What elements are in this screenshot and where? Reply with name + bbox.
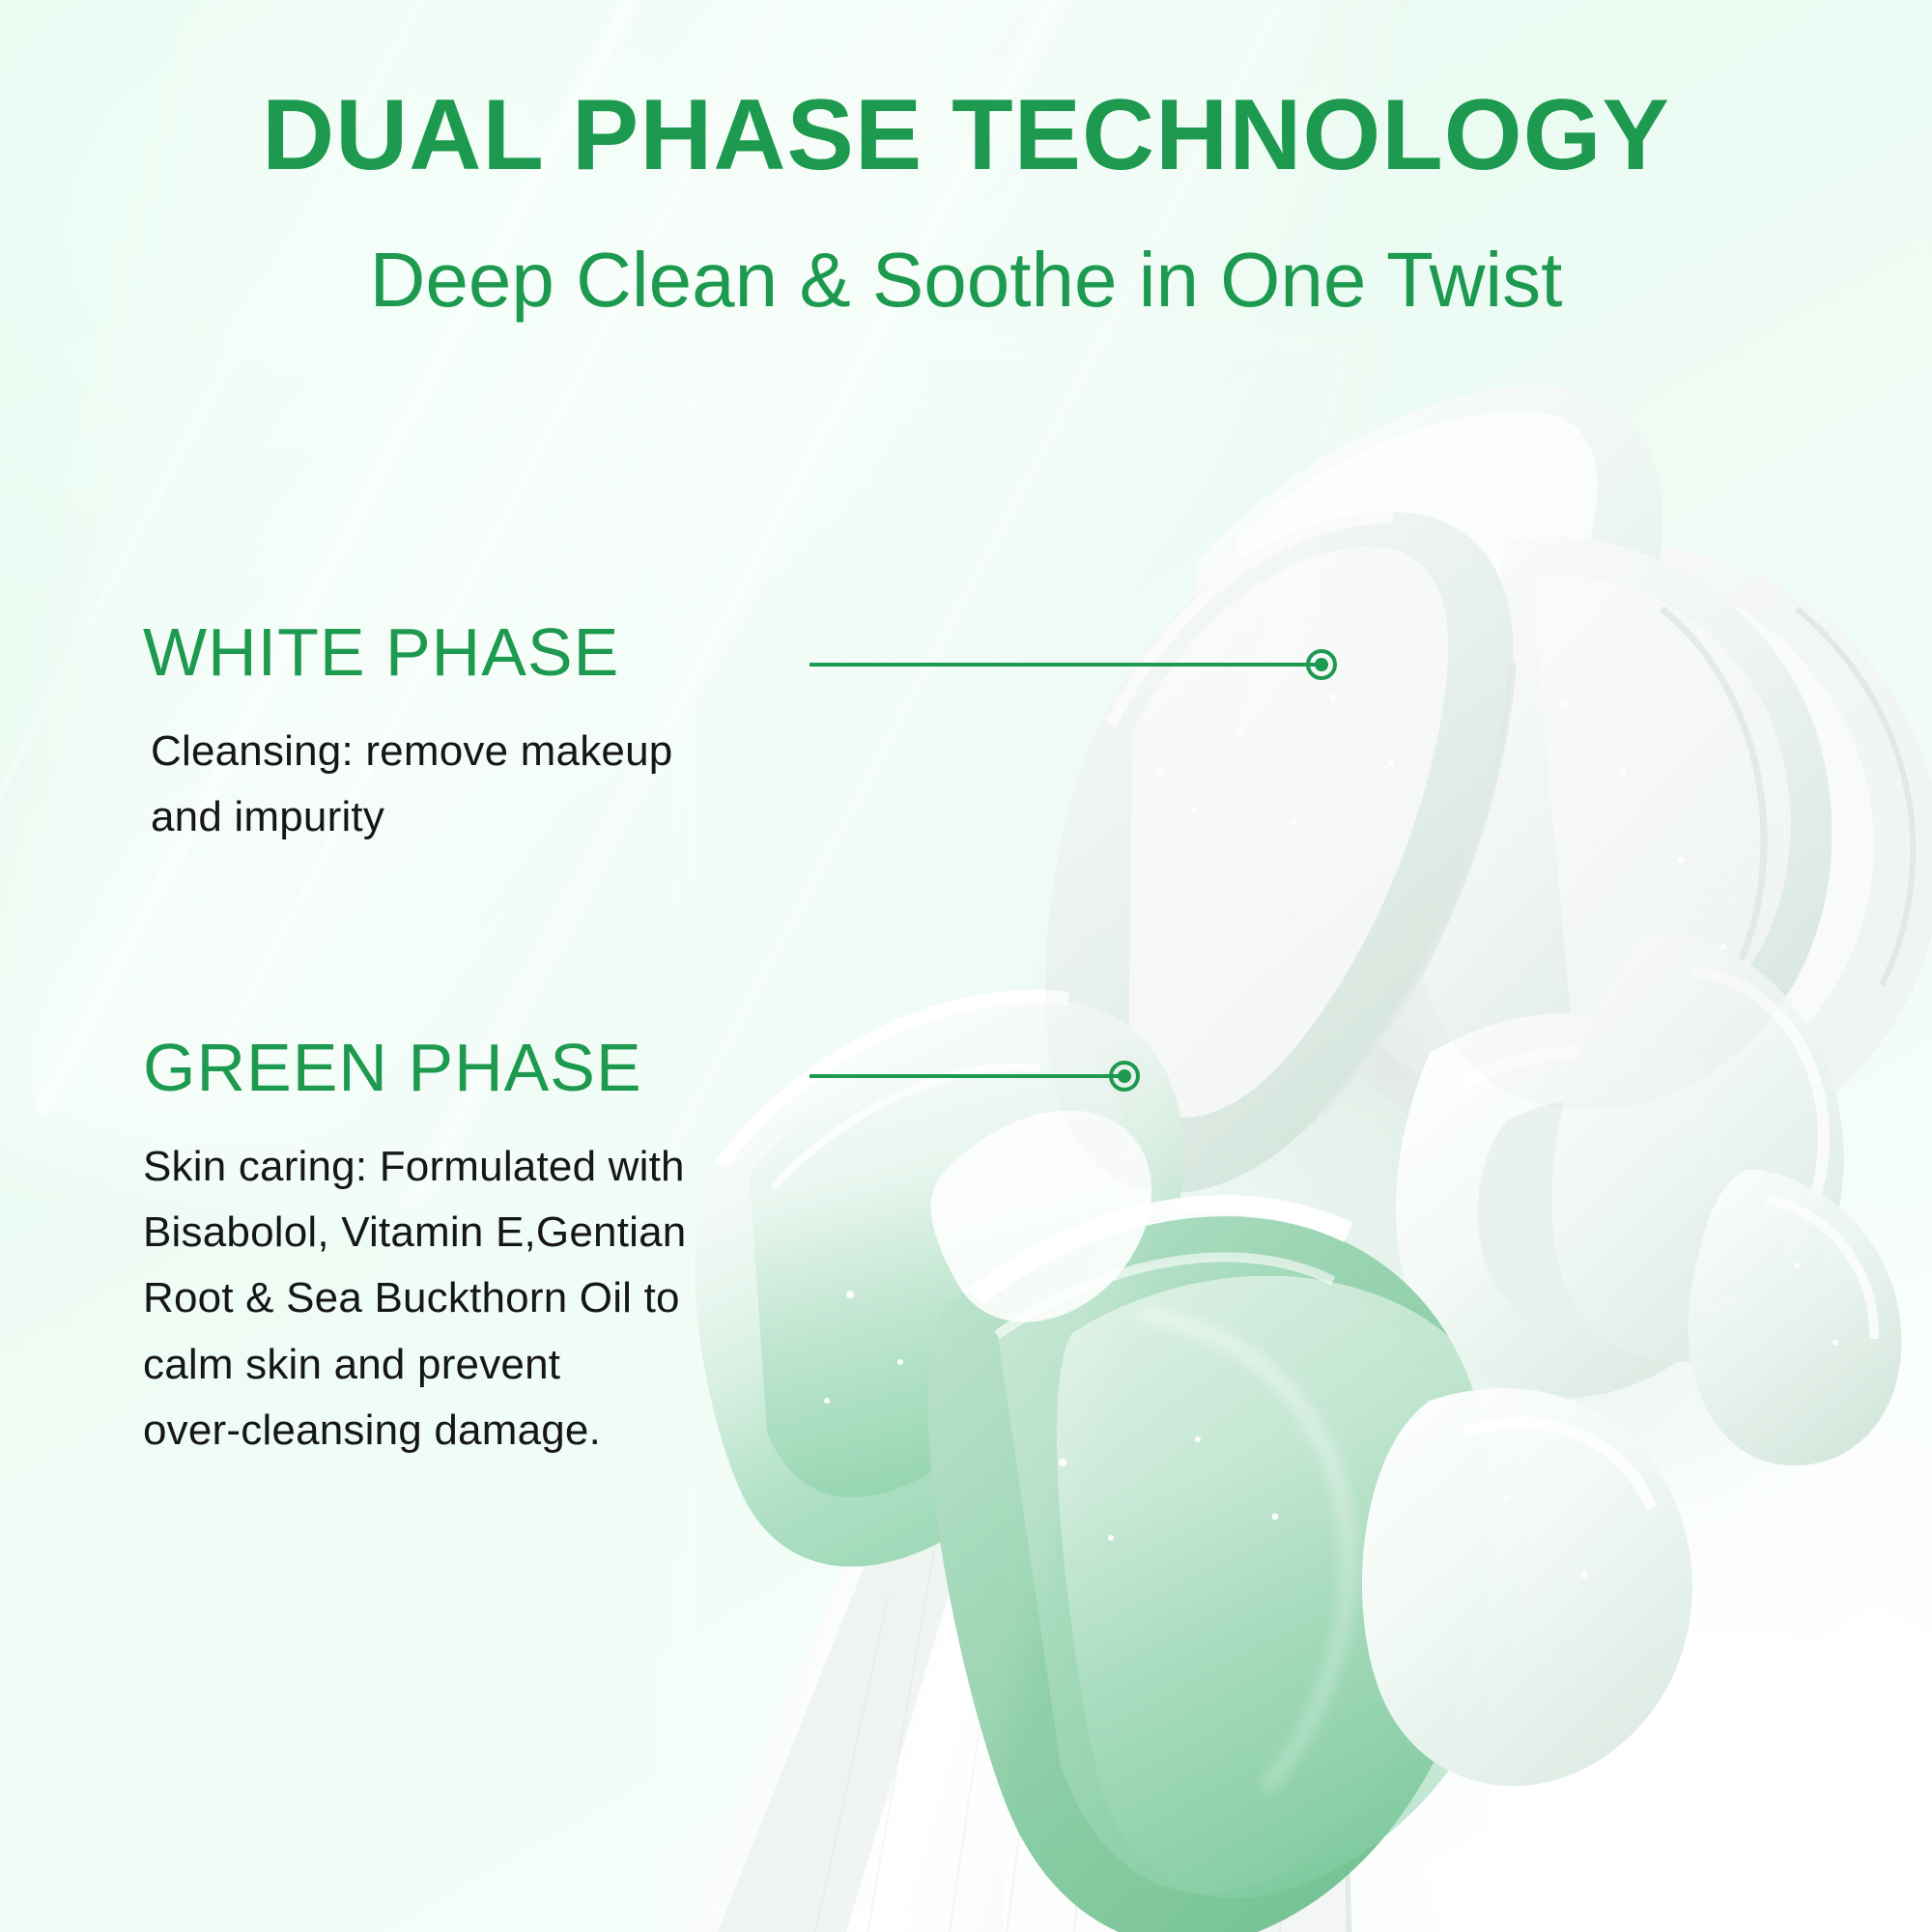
page-title: DUAL PHASE TECHNOLOGY [0,85,1932,185]
callout-body-line: and impurity [151,784,672,850]
callout-dot-white-phase [1306,649,1337,680]
callout-heading-white-phase: WHITE PHASE [143,618,672,686]
callout-heading-green-phase: GREEN PHASE [143,1034,686,1101]
leader-line-green-phase [810,1074,1124,1078]
callout-body-line: Root & Sea Buckthorn Oil to [143,1265,686,1331]
callout-green-phase: GREEN PHASE Skin caring: Formulated with… [143,1034,686,1463]
page-subtitle: Deep Clean & Soothe in One Twist [0,241,1932,319]
callout-body-line: Cleansing: remove makeup [151,719,672,784]
callout-body-white-phase: Cleansing: remove makeup and impurity [151,719,672,850]
callout-body-line: Bisabolol, Vitamin E,Gentian [143,1200,686,1265]
callout-body-green-phase: Skin caring: Formulated with Bisabolol, … [143,1134,686,1463]
callout-dot-green-phase [1109,1061,1140,1092]
product-image [657,319,1932,1932]
callout-body-line: over-cleansing damage. [143,1398,686,1463]
callout-body-line: calm skin and prevent [143,1332,686,1398]
infographic-canvas: DUAL PHASE TECHNOLOGY Deep Clean & Sooth… [0,0,1932,1932]
callout-body-line: Skin caring: Formulated with [143,1134,686,1200]
callout-white-phase: WHITE PHASE Cleansing: remove makeup and… [143,618,672,850]
leader-line-white-phase [810,663,1321,667]
